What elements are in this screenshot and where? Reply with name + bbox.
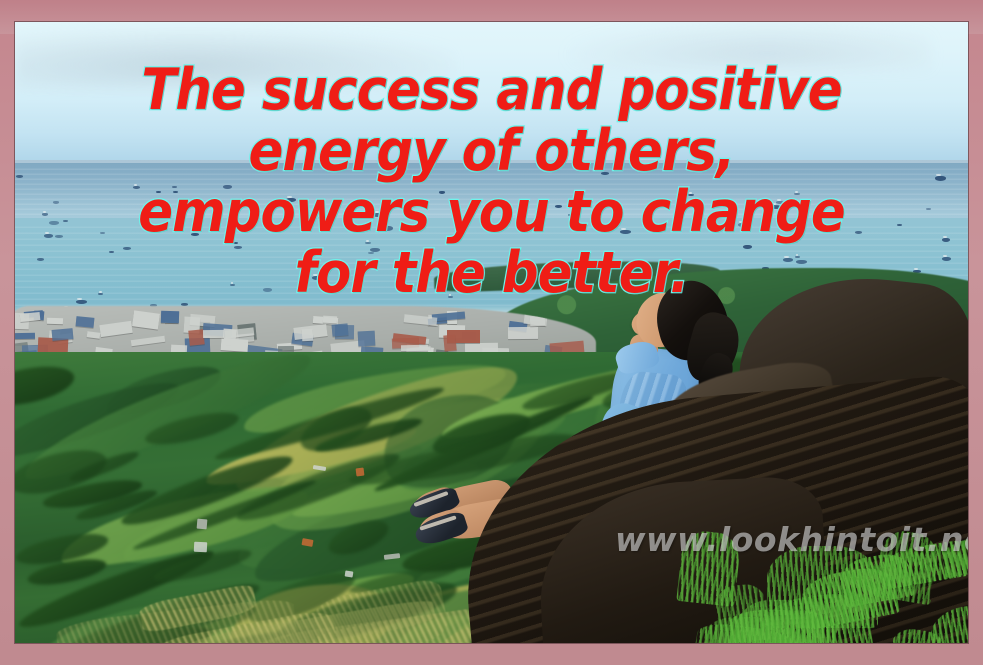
boat [263, 288, 272, 292]
boat [620, 230, 631, 234]
boat-cabin [936, 174, 941, 176]
boat-cabin [739, 221, 744, 223]
quote-poster: The success and positive energy of other… [0, 0, 983, 665]
boat [318, 216, 327, 220]
boat [223, 185, 232, 189]
boat [37, 258, 44, 261]
boat-cabin [943, 236, 947, 238]
boat [743, 245, 752, 249]
village-roof [302, 329, 314, 341]
field-structure [194, 542, 207, 553]
boat-cabin [287, 196, 292, 198]
boat [555, 205, 562, 208]
boat [568, 214, 573, 216]
boat [370, 248, 380, 252]
boat-cabin [313, 274, 318, 276]
boat-cabin [232, 210, 234, 212]
boat-cabin [383, 224, 388, 226]
boat-cabin [374, 211, 379, 213]
boat [156, 191, 161, 193]
boat [230, 284, 235, 286]
boat-cabin [777, 199, 781, 201]
boat [738, 223, 748, 227]
village-roof [131, 336, 165, 347]
boat [783, 258, 793, 262]
boat-cabin [43, 211, 46, 213]
boat-cabin [784, 256, 789, 258]
boat [935, 176, 946, 181]
boat [191, 233, 199, 236]
boat-cabin [134, 184, 137, 186]
boat-cabin [45, 232, 49, 234]
boat [63, 220, 68, 222]
field-structure [197, 519, 208, 530]
boat-cabin [231, 282, 233, 284]
boat [794, 193, 800, 195]
village-roof [87, 331, 101, 339]
boat [439, 191, 445, 194]
boat [55, 235, 63, 238]
field-structure [345, 570, 354, 577]
boat [312, 276, 322, 280]
boat [98, 293, 103, 295]
boat-cabin [914, 268, 918, 270]
boat [231, 212, 236, 214]
boat [926, 208, 931, 210]
village-roof [203, 330, 224, 338]
village-roof [323, 316, 337, 324]
boat [601, 172, 609, 175]
boat [308, 215, 316, 218]
boat [855, 231, 862, 234]
village-roof [358, 331, 376, 347]
boat [368, 252, 374, 254]
village-roof [161, 311, 179, 324]
boat [133, 186, 140, 189]
boat [776, 201, 784, 204]
village-roof [133, 310, 161, 329]
boat [76, 300, 87, 304]
boat [172, 186, 177, 188]
boat [233, 242, 238, 244]
boat [265, 222, 273, 225]
boat-cabin [795, 191, 798, 193]
boat [49, 221, 59, 225]
boat [100, 232, 105, 234]
boat [246, 199, 253, 202]
village-roof [332, 323, 349, 336]
boat [688, 194, 694, 196]
field-structure [356, 468, 365, 477]
village-roof [221, 338, 249, 352]
village-roof [100, 321, 133, 337]
village-roof [15, 333, 36, 339]
boat-cabin [796, 254, 798, 256]
boat-cabin [943, 255, 947, 257]
village-roof [47, 318, 63, 324]
boat [942, 238, 950, 242]
sea-shimmer [15, 168, 968, 220]
boat [234, 246, 242, 249]
boat [373, 213, 382, 217]
boat [42, 213, 48, 216]
boat [365, 242, 371, 244]
cloud-haze-left [15, 30, 453, 88]
boat [795, 256, 800, 258]
village-roof [76, 316, 95, 328]
cloud-haze-right [568, 22, 930, 68]
boat [286, 198, 296, 202]
site-watermark: www.lookhintoit.net [615, 520, 968, 559]
boat [713, 217, 718, 219]
boat [897, 224, 902, 226]
boat-cabin [771, 203, 776, 205]
boat [942, 257, 951, 261]
boat [53, 201, 59, 204]
boat [382, 226, 393, 231]
village-roof [20, 312, 41, 322]
boat-cabin [99, 291, 102, 293]
boat-cabin [621, 228, 626, 230]
boat [173, 191, 178, 193]
boat-cabin [366, 240, 369, 242]
boat [770, 205, 781, 209]
boat [790, 240, 798, 243]
boat [109, 251, 114, 253]
boat [123, 247, 131, 250]
boat [16, 175, 23, 178]
photograph: The success and positive energy of other… [15, 22, 968, 643]
boat-cabin [77, 298, 82, 300]
boat-cabin [689, 192, 692, 194]
boat [747, 203, 753, 206]
boat [796, 260, 807, 264]
boat [44, 234, 53, 238]
village-roof [52, 328, 74, 341]
